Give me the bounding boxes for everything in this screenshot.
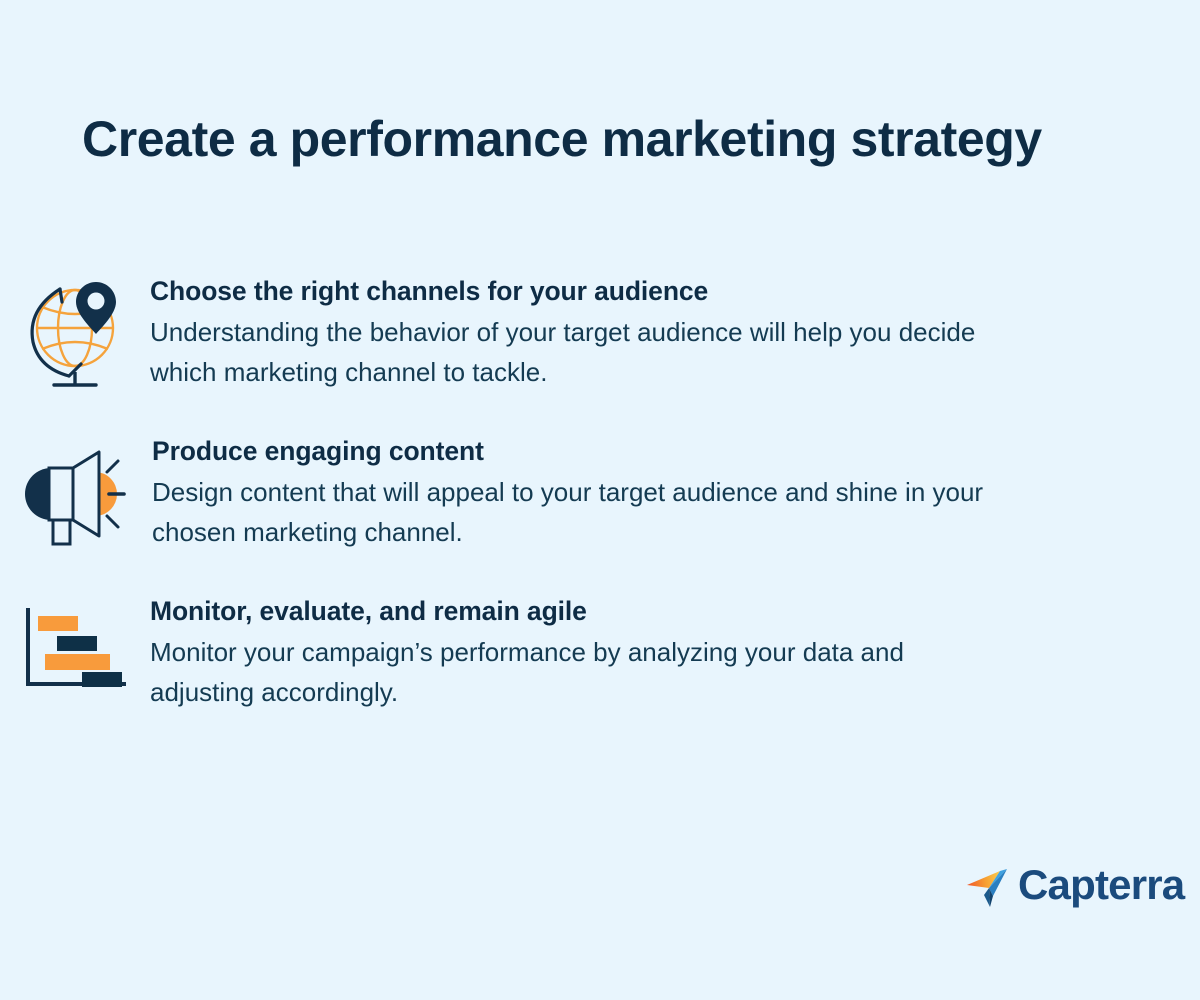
list-item: Choose the right channels for your audie…	[0, 272, 1200, 432]
globe-pin-icon	[0, 272, 150, 394]
capterra-arrow-icon	[966, 862, 1012, 908]
item-body: Understanding the behavior of your targe…	[150, 312, 1010, 392]
item-text: Choose the right channels for your audie…	[150, 272, 1200, 392]
item-body: Monitor your campaign’s performance by a…	[150, 632, 1010, 712]
item-text: Produce engaging content Design content …	[150, 432, 1200, 552]
megaphone-icon	[0, 432, 150, 546]
item-heading: Produce engaging content	[152, 432, 1100, 470]
capterra-wordmark: Capterra	[1018, 862, 1184, 908]
item-heading: Choose the right channels for your audie…	[150, 272, 1100, 310]
gantt-chart-icon	[0, 592, 150, 692]
infographic-page: Create a performance marketing strategy	[0, 0, 1200, 1000]
item-list: Choose the right channels for your audie…	[0, 272, 1200, 752]
list-item: Monitor, evaluate, and remain agile Moni…	[0, 592, 1200, 752]
item-body: Design content that will appeal to your …	[152, 472, 1012, 552]
list-item: Produce engaging content Design content …	[0, 432, 1200, 592]
capterra-logo: Capterra	[966, 862, 1184, 908]
item-text: Monitor, evaluate, and remain agile Moni…	[150, 592, 1200, 712]
page-title: Create a performance marketing strategy	[82, 108, 1142, 170]
item-heading: Monitor, evaluate, and remain agile	[150, 592, 1100, 630]
